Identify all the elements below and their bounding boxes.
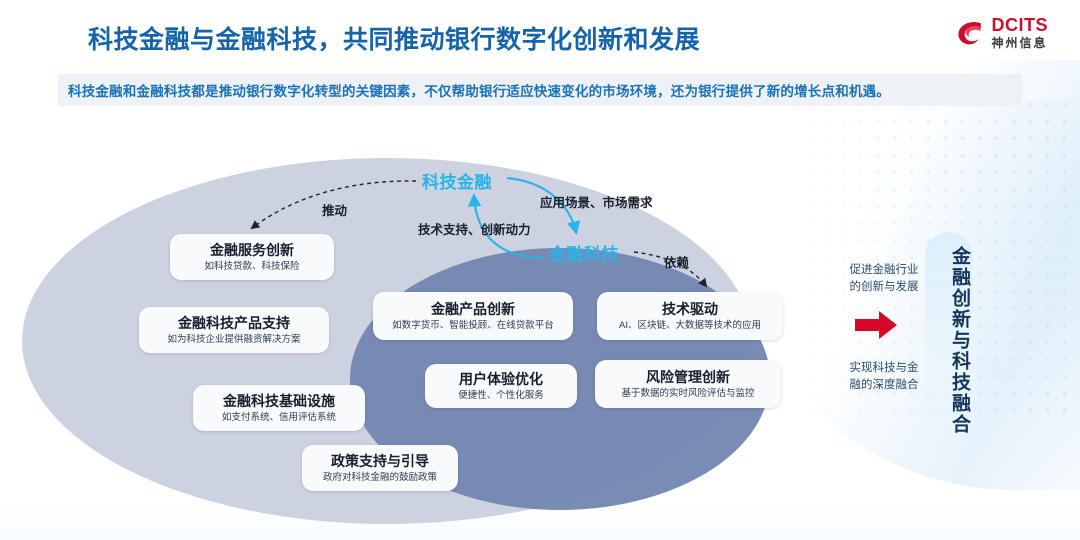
brand-logo: DCITS 神州信息 (956, 16, 1049, 49)
card-fintech-infrastructure[interactable]: 金融科技基础设施 如支付系统、信用评估系统 (193, 385, 365, 431)
edge-label-scenario: 应用场景、市场需求 (540, 192, 653, 211)
card-subtitle: 政府对科技金融的鼓励政策 (323, 472, 437, 483)
card-financial-service-innovation[interactable]: 金融服务创新 如科技贷款、科技保险 (170, 234, 334, 280)
right-arrow-icon (853, 308, 899, 342)
slide-canvas: 科技金融与金融科技，共同推动银行数字化创新和发展 DCITS 神州信息 科技金融… (0, 0, 1080, 540)
card-title: 用户体验优化 (459, 371, 543, 389)
card-title: 金融科技基础设施 (223, 393, 335, 411)
card-subtitle: 基于数据的实时风险评估与监控 (621, 388, 754, 399)
outcome-note-bottom: 实现科技与金 融的深度融合 (838, 360, 930, 393)
card-subtitle: 如为科技企业提供融资解决方案 (167, 334, 300, 345)
dcits-swirl-icon (956, 18, 986, 48)
card-title: 金融科技产品支持 (178, 315, 290, 333)
subtitle-text: 科技金融和金融科技都是推动银行数字化转型的关键因素，不仅帮助银行适应快速变化的市… (58, 80, 890, 100)
outcome-note-top: 促进金融行业 的创新与发展 (838, 262, 930, 295)
card-subtitle: 如数字货币、智能投顾、在线贷款平台 (392, 320, 554, 331)
logo-en-label: DCITS (992, 16, 1049, 34)
edge-label-drive: 推动 (322, 200, 347, 219)
card-subtitle: 便捷性、个性化服务 (458, 390, 544, 401)
card-subtitle: 如支付系统、信用评估系统 (222, 412, 336, 423)
card-policy-support[interactable]: 政策支持与引导 政府对科技金融的鼓励政策 (302, 445, 458, 491)
concept-label-tech-finance: 科技金融 (422, 168, 492, 193)
logo-cn-label: 神州信息 (992, 37, 1049, 49)
page-title: 科技金融与金融科技，共同推动银行数字化创新和发展 (88, 20, 700, 56)
card-title: 政策支持与引导 (331, 453, 429, 471)
card-user-experience-optimization[interactable]: 用户体验优化 便捷性、个性化服务 (425, 364, 577, 408)
card-title: 金融服务创新 (210, 242, 294, 260)
edge-label-depend: 依赖 (664, 252, 689, 271)
vertical-banner-text: 金融创新与科技融合 (925, 238, 973, 438)
card-risk-management-innovation[interactable]: 风险管理创新 基于数据的实时风险评估与监控 (595, 360, 781, 408)
card-subtitle: AI、区块链、大数据等技术的应用 (619, 320, 761, 331)
card-title: 金融产品创新 (431, 301, 515, 319)
subtitle-band: 科技金融和金融科技都是推动银行数字化转型的关键因素，不仅帮助银行适应快速变化的市… (58, 74, 1022, 106)
card-fintech-product-support[interactable]: 金融科技产品支持 如为科技企业提供融资解决方案 (139, 307, 329, 353)
card-title: 技术驱动 (662, 301, 718, 319)
card-subtitle: 如科技贷款、科技保险 (204, 261, 299, 272)
edge-label-tech-support: 技术支持、创新动力 (418, 219, 531, 238)
logo-text-block: DCITS 神州信息 (992, 16, 1049, 49)
card-financial-product-innovation[interactable]: 金融产品创新 如数字货币、智能投顾、在线贷款平台 (373, 292, 573, 340)
card-technology-driven[interactable]: 技术驱动 AI、区块链、大数据等技术的应用 (597, 292, 783, 340)
concept-label-fintech: 金融科技 (549, 240, 619, 265)
card-title: 风险管理创新 (646, 369, 730, 387)
